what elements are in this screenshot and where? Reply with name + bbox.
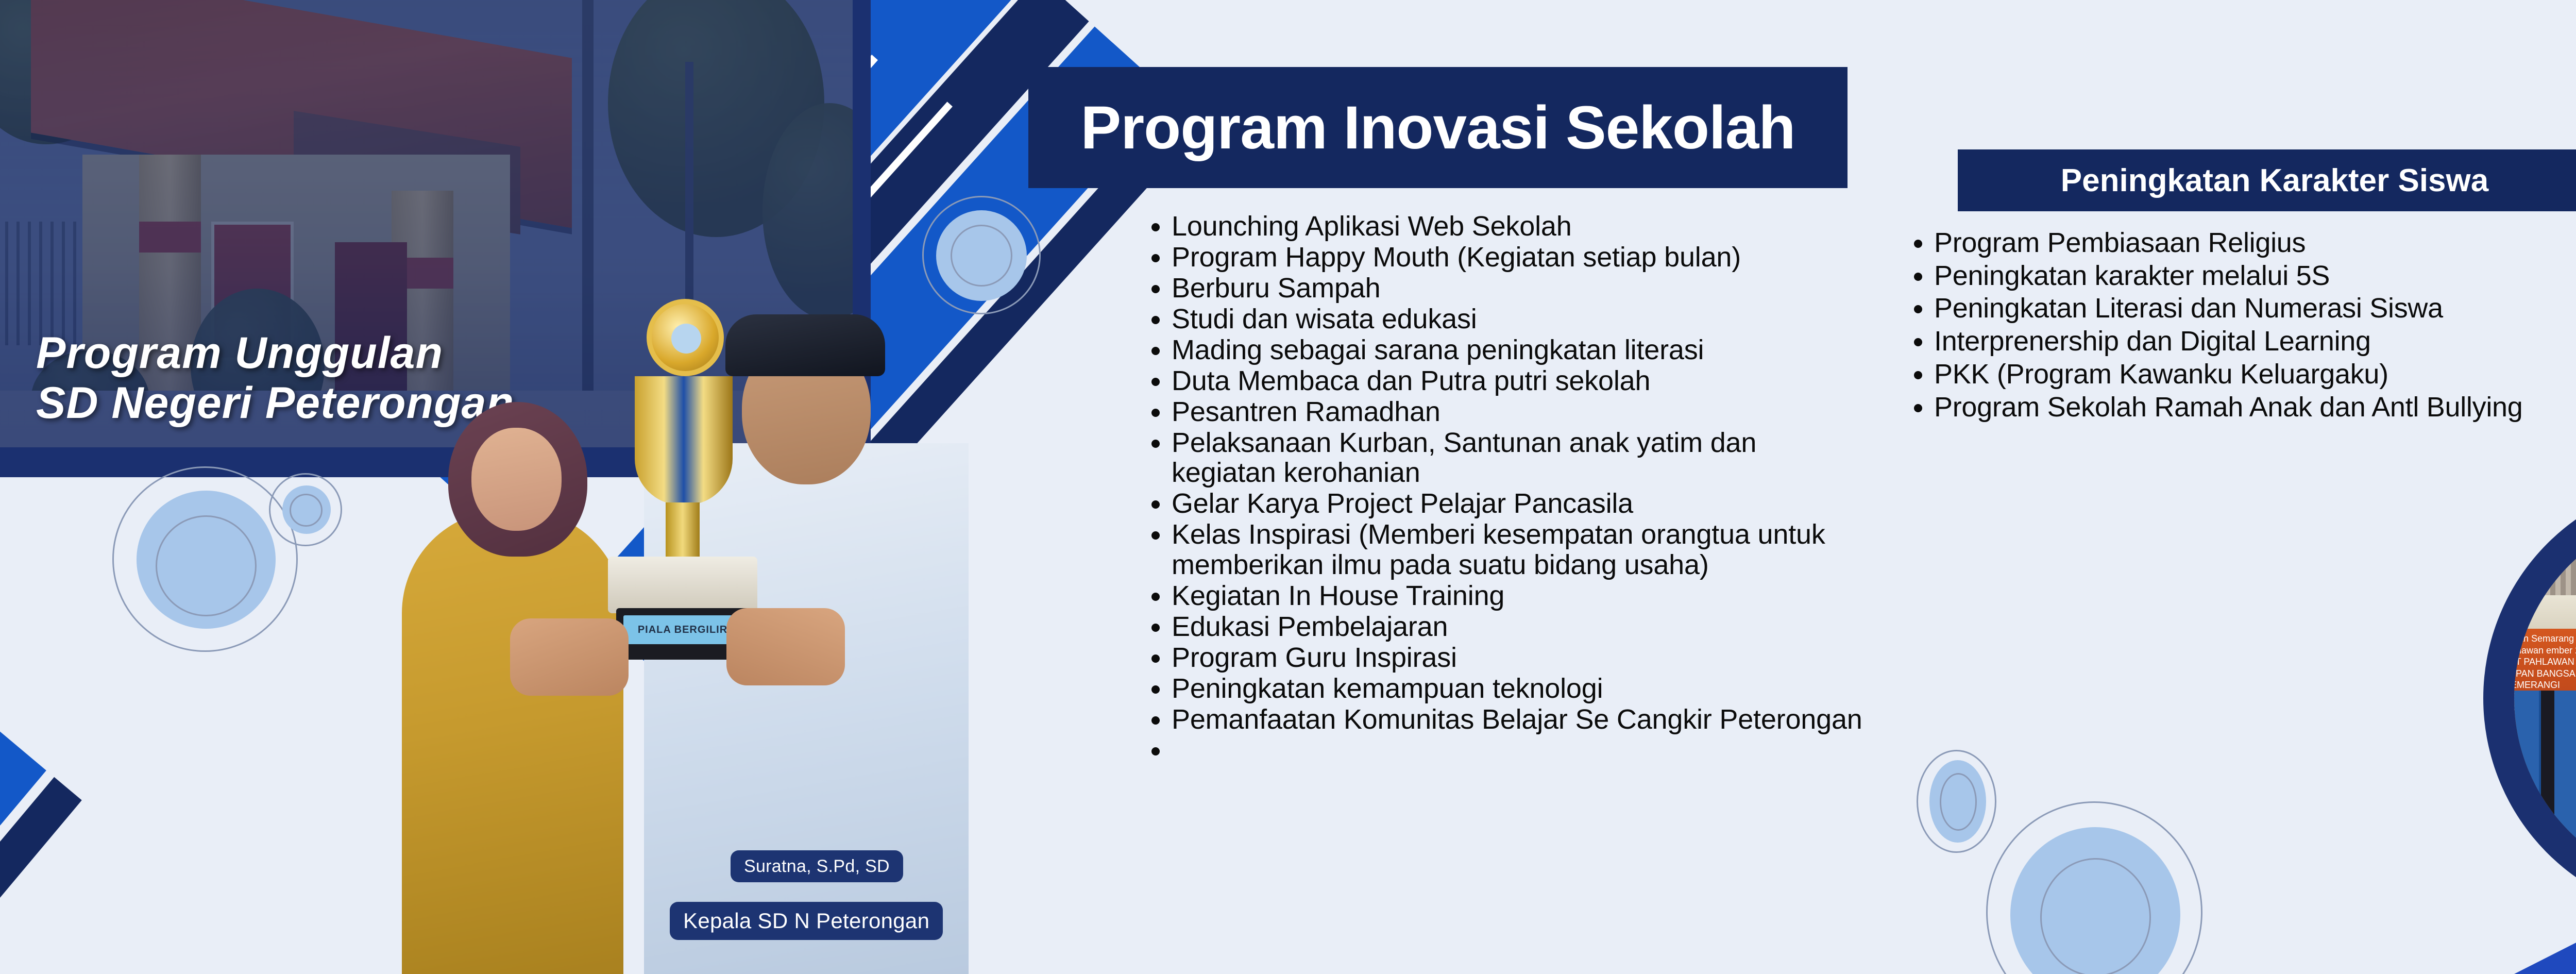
deco-ring <box>290 494 323 527</box>
headmaster-role-badge: Kepala SD N Peterongan <box>670 902 943 940</box>
list-item: Interprenership dan Digital Learning <box>1934 325 2576 358</box>
program-inovasi-title-box: Program Inovasi Sekolah <box>1028 67 1848 188</box>
teachers-group-photo: AKU CINTA INDONESIA ongan Semarang ari P… <box>2514 510 2576 886</box>
peningkatan-karakter-title: Peningkatan Karakter Siswa <box>2061 162 2488 199</box>
list-item: Berburu Sampah <box>1172 273 1865 303</box>
list-item: Lounching Aplikasi Web Sekolah <box>1172 211 1865 241</box>
list-item: Program Sekolah Ramah Anak dan Antl Bull… <box>1934 391 2576 424</box>
program-inovasi-title: Program Inovasi Sekolah <box>1081 93 1795 163</box>
list-item: PKK (Program Kawanku Keluargaku) <box>1934 358 2576 391</box>
program-inovasi-list: Lounching Aplikasi Web Sekolah Program H… <box>1149 211 1865 766</box>
list-item: Edukasi Pembelajaran <box>1172 612 1865 642</box>
list-item: Peningkatan karakter melalui 5S <box>1934 260 2576 293</box>
deco-ring <box>951 225 1012 287</box>
poster-canvas: Program Unggulan SD Negeri Peterongan PI… <box>0 0 2576 974</box>
list-item-empty <box>1172 735 1865 765</box>
list-item: Peningkatan Literasi dan Numerasi Siswa <box>1934 292 2576 325</box>
list-item: Program Happy Mouth (Kegiatan setiap bul… <box>1172 242 1865 272</box>
deco-ring <box>1940 773 1977 831</box>
peningkatan-karakter-title-box: Peningkatan Karakter Siswa <box>1958 149 2576 211</box>
deco-ring <box>2040 858 2151 974</box>
list-item: Pesantren Ramadhan <box>1172 397 1865 427</box>
list-item: Kegiatan In House Training <box>1172 581 1865 611</box>
trophy-plate-label: PIALA BERGILIR <box>623 615 742 644</box>
list-item: Kelas Inspirasi (Memberi kesempatan oran… <box>1172 519 1865 579</box>
deco-ring <box>156 515 257 616</box>
list-item: Mading sebagai sarana peningkatan litera… <box>1172 335 1865 365</box>
list-item: Gelar Karya Project Pelajar Pancasila <box>1172 489 1865 518</box>
peningkatan-karakter-list: Program Pembiasaan Religius Peningkatan … <box>1911 227 2576 424</box>
list-item: Pelaksanaan Kurban, Santunan anak yatim … <box>1172 428 1865 488</box>
list-item: Peningkatan kemampuan teknologi <box>1172 674 1865 703</box>
list-item: Studi dan wisata edukasi <box>1172 304 1865 334</box>
list-item: Program Guru Inspirasi <box>1172 643 1865 673</box>
group-photo-banner-text: AKU CINTA INDONESIA <box>2514 595 2576 631</box>
list-item: Program Pembiasaan Religius <box>1934 227 2576 260</box>
headmaster-name-badge: Suratna, S.Pd, SD <box>731 850 903 882</box>
list-item: Pemanfaatan Komunitas Belajar Se Cangkir… <box>1172 704 1865 734</box>
list-item: Duta Membaca dan Putra putri sekolah <box>1172 366 1865 396</box>
